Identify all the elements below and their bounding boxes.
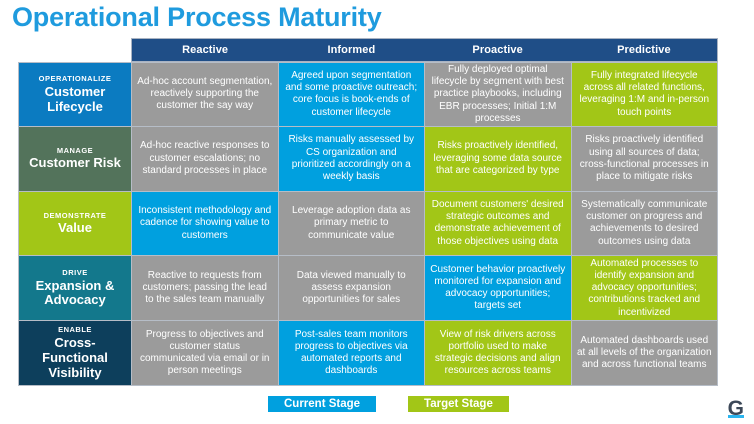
- matrix-row-label: OPERATIONALIZECustomer Lifecycle: [19, 63, 132, 126]
- matrix-header-row: ReactiveInformedProactivePredictive: [131, 38, 718, 62]
- matrix-row-eyebrow: ENABLE: [58, 325, 92, 334]
- matrix-row-title: Customer Risk: [29, 156, 121, 171]
- matrix-cell: Automated dashboards used at all levels …: [572, 321, 718, 385]
- legend-item: Target Stage: [408, 396, 509, 412]
- matrix-cell: Automated processes to identify expansio…: [572, 256, 718, 320]
- matrix-row-eyebrow: DEMONSTRATE: [44, 211, 107, 220]
- matrix-cell: Document customers' desired strategic ou…: [425, 192, 572, 256]
- brand-logo-letter: G: [728, 397, 744, 420]
- matrix-row-label: DRIVEExpansion & Advocacy: [19, 256, 132, 320]
- matrix-row: ENABLECross-Functional VisibilityProgres…: [18, 321, 718, 386]
- matrix-row: DRIVEExpansion & AdvocacyReactive to req…: [18, 256, 718, 321]
- matrix-cell: Progress to objectives and customer stat…: [132, 321, 279, 385]
- page-title: Operational Process Maturity: [12, 2, 382, 33]
- matrix-cell: Post-sales team monitors progress to obj…: [279, 321, 426, 385]
- matrix-row: DEMONSTRATEValueInconsistent methodology…: [18, 192, 718, 257]
- matrix-row-eyebrow: MANAGE: [57, 146, 93, 155]
- matrix-cell: Leverage adoption data as primary metric…: [279, 192, 426, 256]
- matrix-column-header: Predictive: [571, 39, 717, 61]
- matrix-row-title: Value: [58, 221, 92, 236]
- matrix-column-header: Informed: [278, 39, 424, 61]
- matrix-row: OPERATIONALIZECustomer LifecycleAd-hoc a…: [18, 62, 718, 127]
- matrix-cell: Risks proactively identified, leveraging…: [425, 127, 572, 191]
- matrix-column-header: Reactive: [132, 39, 278, 61]
- matrix-row: MANAGECustomer RiskAd-hoc reactive respo…: [18, 127, 718, 192]
- matrix-cell: Ad-hoc account segmentation, reactively …: [132, 63, 279, 126]
- matrix-column-header: Proactive: [425, 39, 571, 61]
- matrix-row-eyebrow: OPERATIONALIZE: [39, 74, 112, 83]
- matrix-row-title: Cross-Functional Visibility: [23, 336, 127, 381]
- brand-logo: G: [728, 398, 744, 418]
- matrix-cell: Inconsistent methodology and cadence for…: [132, 192, 279, 256]
- legend: Current StageTarget Stage: [268, 396, 509, 412]
- matrix-body: OPERATIONALIZECustomer LifecycleAd-hoc a…: [18, 62, 718, 386]
- matrix-row-eyebrow: DRIVE: [62, 268, 87, 277]
- matrix-cell: Data viewed manually to assess expansion…: [279, 256, 426, 320]
- matrix-row-label: ENABLECross-Functional Visibility: [19, 321, 132, 385]
- matrix-cell: Fully integrated lifecycle across all re…: [572, 63, 718, 126]
- matrix-cell: Risks manually assessed by CS organizati…: [279, 127, 426, 191]
- matrix-row-title: Customer Lifecycle: [23, 85, 127, 115]
- matrix-cell: Ad-hoc reactive responses to customer es…: [132, 127, 279, 191]
- matrix-cell: Risks proactively identified using all s…: [572, 127, 718, 191]
- legend-item: Current Stage: [268, 396, 376, 412]
- matrix-row-label: MANAGECustomer Risk: [19, 127, 132, 191]
- matrix-cell: Fully deployed optimal lifecycle by segm…: [425, 63, 572, 126]
- matrix-cell: Reactive to requests from customers; pas…: [132, 256, 279, 320]
- matrix-cell: Agreed upon segmentation and some proact…: [279, 63, 426, 126]
- matrix-cell: Systematically communicate customer on p…: [572, 192, 718, 256]
- matrix-cell: Customer behavior proactively monitored …: [425, 256, 572, 320]
- matrix-cell: View of risk drivers across portfolio us…: [425, 321, 572, 385]
- matrix-row-label: DEMONSTRATEValue: [19, 192, 132, 256]
- matrix-row-title: Expansion & Advocacy: [23, 279, 127, 309]
- maturity-matrix: ReactiveInformedProactivePredictive OPER…: [18, 38, 718, 386]
